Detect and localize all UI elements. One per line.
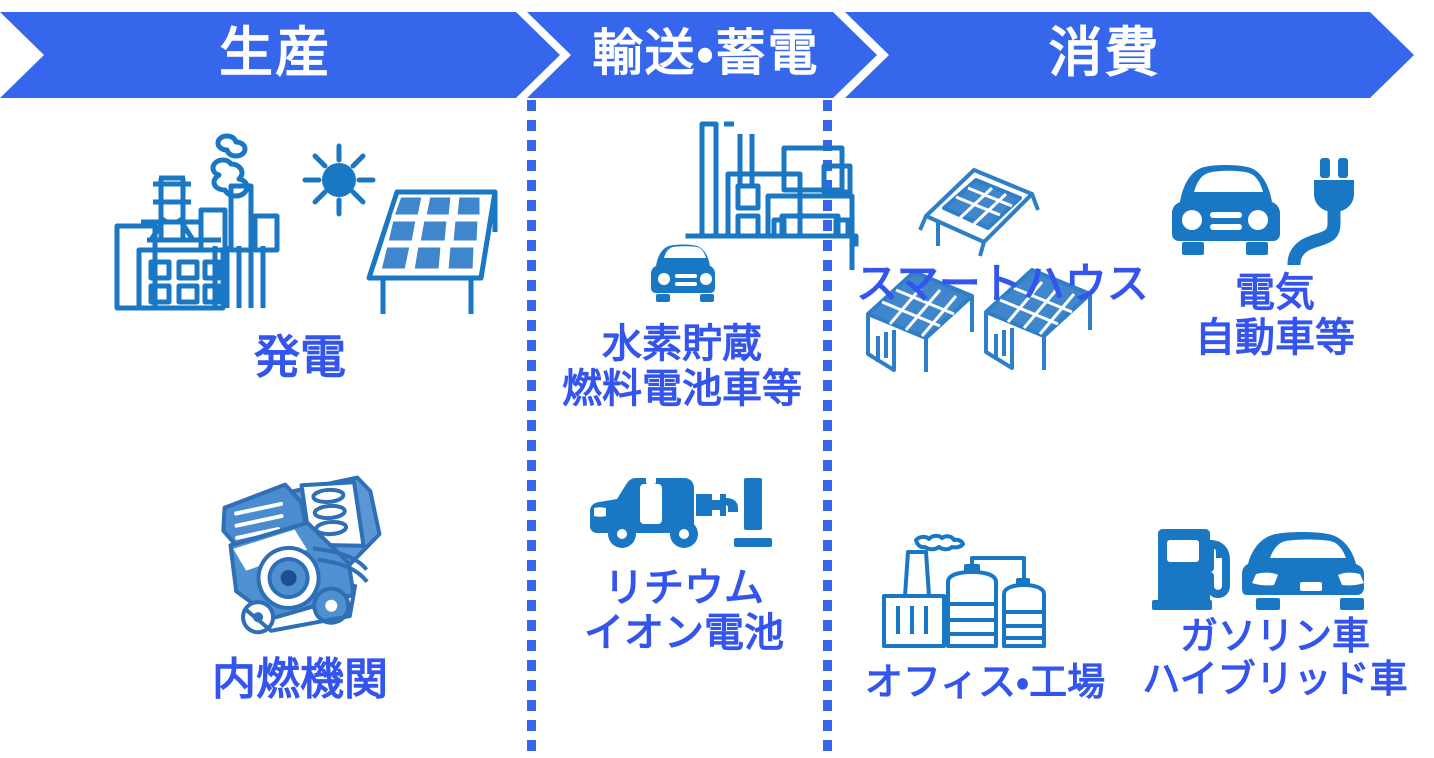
item-office-factory: オフィス・工場 [845,520,1125,705]
item-hydrogen-storage-label: 水素貯蔵 燃料電池車等 [562,322,802,412]
process-flow-banner: 生産 輸送・蓄電 消費 [0,12,1434,98]
electric-vehicle-icons [1170,150,1380,265]
item-electric-vehicle: 電気 自動車等 [1140,150,1410,361]
office-factory-icons [870,520,1100,660]
storage-tank-icon [948,564,996,646]
power-plug-icon [1294,158,1354,265]
storage-tank-icon [1004,578,1044,646]
item-combustion-engine: 内燃機関 [120,455,480,704]
item-hydrogen-storage: 水素貯蔵 燃料電池車等 [546,112,818,412]
car-front-icon [1242,520,1402,612]
car-icon [648,232,728,306]
ev-charging-icon [584,468,784,558]
gasoline-vehicle-icons [1148,520,1402,612]
banner-stage-transport: 輸送・蓄電 [527,12,877,98]
solar-house-icon [908,160,1048,270]
item-lithium-battery-label: リチウム イオン電池 [584,566,784,656]
engine-block-icon [195,455,405,645]
item-electric-vehicle-label: 電気 自動車等 [1195,271,1355,361]
item-power-generation-label: 発電 [254,332,346,384]
hydrogen-storage-icons [636,112,728,312]
banner-stage-transport-label: 輸送・蓄電 [593,28,820,78]
item-smart-house-label: スマートハウス [856,260,1146,307]
solar-panel-icon [295,138,505,318]
combustion-engine-icons [195,455,405,645]
power-generation-icons [95,118,505,318]
item-power-generation: 発電 [80,118,520,384]
banner-stage-consumption-label: 消費 [1049,26,1161,80]
electric-car-icon [1170,150,1380,265]
item-smart-house: スマートハウス [848,160,1138,360]
banner-stage-production-label: 生産 [219,26,331,80]
item-gasoline-vehicle: ガソリン車 ハイブリッド車 [1125,520,1425,701]
item-combustion-engine-label: 内燃機関 [212,655,388,704]
banner-stage-production: 生産 [0,12,560,98]
item-gasoline-vehicle-label: ガソリン車 ハイブリッド車 [1142,616,1407,701]
fuel-pump-icon [1148,520,1238,612]
item-office-factory-label: オフィス・工場 [865,662,1105,705]
power-plant-icon [95,118,295,318]
item-lithium-battery: リチウム イオン電池 [552,468,816,656]
factory-icon [870,520,1100,660]
column-divider-left [527,100,536,752]
lithium-battery-icons [584,468,784,558]
sun-icon [305,146,373,214]
banner-stage-consumption: 消費 [845,12,1434,98]
